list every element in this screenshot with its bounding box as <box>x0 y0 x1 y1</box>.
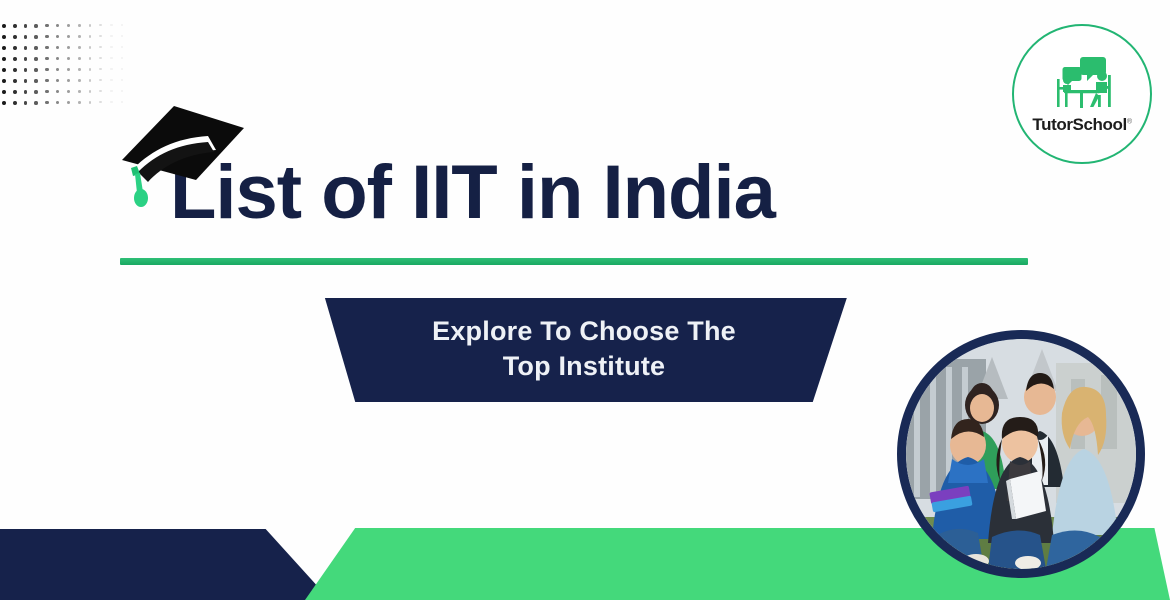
dot <box>99 79 101 81</box>
dot <box>56 35 59 38</box>
dot <box>24 57 28 61</box>
dot <box>56 90 59 93</box>
dot <box>89 90 92 93</box>
dot <box>67 57 70 60</box>
dot <box>2 68 6 72</box>
dot <box>2 35 6 39</box>
dot <box>110 46 112 48</box>
dot <box>2 46 6 50</box>
dot <box>13 101 17 105</box>
dot <box>56 101 59 104</box>
dot <box>78 90 81 93</box>
dot <box>89 101 92 104</box>
dot <box>45 90 48 93</box>
dot <box>24 101 28 105</box>
dot <box>67 35 70 38</box>
dot <box>78 46 81 49</box>
dot <box>121 79 123 81</box>
dot <box>34 35 38 39</box>
dot <box>67 24 70 27</box>
dot <box>89 46 92 49</box>
dot <box>24 90 28 94</box>
dot <box>99 57 101 59</box>
logo-wordmark: TutorSchool® <box>1032 115 1131 135</box>
dot <box>24 68 28 72</box>
dot <box>24 24 28 28</box>
title-underline-rule <box>120 258 1028 265</box>
dot <box>89 57 92 60</box>
dot <box>89 35 92 38</box>
dot <box>121 35 123 37</box>
dot <box>2 79 6 83</box>
dot <box>45 79 48 82</box>
dot <box>56 46 59 49</box>
dot <box>110 57 112 59</box>
dot <box>45 46 48 49</box>
dot <box>110 35 112 37</box>
dot <box>13 35 17 39</box>
dot <box>67 68 70 71</box>
dot <box>34 46 38 50</box>
dot <box>89 24 92 27</box>
dot <box>2 57 6 61</box>
dot <box>45 68 48 71</box>
dot <box>13 46 17 50</box>
students-photo <box>897 330 1145 578</box>
page-title: List of IIT in India <box>170 155 775 231</box>
dot <box>34 57 38 61</box>
dot <box>24 46 28 50</box>
dot <box>99 24 101 26</box>
dot <box>56 57 59 60</box>
dot <box>2 101 6 105</box>
subtitle-line-1: Explore To Choose The <box>432 316 736 346</box>
dot <box>34 79 38 83</box>
dot <box>13 57 17 61</box>
dot <box>45 101 48 104</box>
dot <box>13 79 17 83</box>
dot <box>99 90 101 92</box>
subtitle-text-block: Explore To Choose The Top Institute <box>432 314 736 385</box>
dot <box>110 79 112 81</box>
dot <box>121 57 123 59</box>
dot <box>2 90 6 94</box>
dot <box>13 24 17 28</box>
tutor-school-tutoring-icon <box>1039 53 1125 113</box>
dot <box>78 35 81 38</box>
dot <box>67 90 70 93</box>
dot <box>78 101 81 104</box>
dot <box>24 79 28 83</box>
dot <box>78 24 81 27</box>
dot <box>78 79 81 82</box>
dot <box>67 79 70 82</box>
dot <box>89 68 92 71</box>
dot <box>45 24 48 27</box>
dot <box>99 46 101 48</box>
dot <box>67 46 70 49</box>
dot <box>110 24 112 26</box>
students-photo-image <box>906 339 1136 569</box>
dot <box>121 24 123 26</box>
dot <box>13 68 17 72</box>
dot <box>78 57 81 60</box>
dot <box>56 79 59 82</box>
dot <box>121 68 123 70</box>
dot <box>99 35 101 37</box>
dot <box>34 90 38 94</box>
subtitle-banner: Explore To Choose The Top Institute <box>318 298 850 402</box>
dot <box>56 24 59 27</box>
dot <box>34 24 38 28</box>
dot <box>89 79 92 82</box>
promo-banner: List of IIT in India Explore To Choose T… <box>0 0 1170 600</box>
logo-wordmark-text: TutorSchool <box>1032 115 1126 134</box>
dot <box>34 68 38 72</box>
dot <box>110 68 112 70</box>
bottom-navy-chevron <box>0 529 330 600</box>
dot <box>13 90 17 94</box>
dot <box>45 35 48 38</box>
dot <box>78 68 81 71</box>
dot <box>99 68 101 70</box>
dot <box>34 101 38 105</box>
dot <box>45 57 48 60</box>
dot <box>67 101 70 104</box>
dot <box>2 24 6 28</box>
graduation-cap-icon <box>104 92 254 207</box>
dot <box>121 46 123 48</box>
dot <box>99 101 101 103</box>
tutor-school-logo[interactable]: TutorSchool® <box>1012 24 1152 164</box>
registered-trademark-mark: ® <box>1127 118 1132 125</box>
subtitle-line-2: Top Institute <box>503 351 666 381</box>
dot <box>56 68 59 71</box>
dot <box>24 35 28 39</box>
